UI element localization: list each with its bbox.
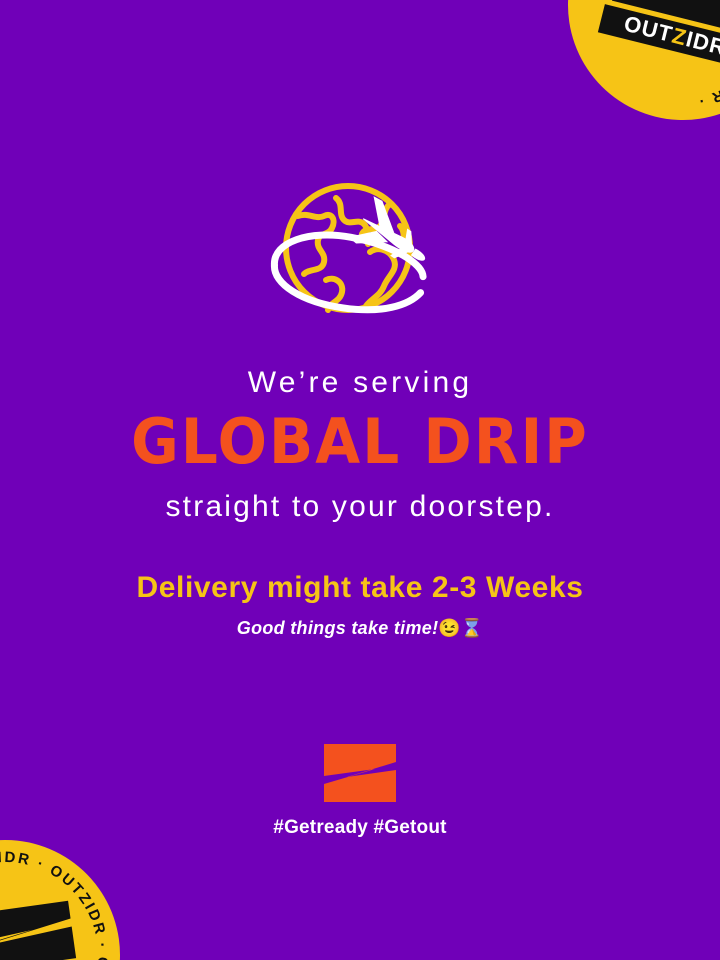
delivery-reassurance: Good things take time!😉⌛ <box>0 619 720 639</box>
brand-stamp-bottom-left: OUTZIDR · OUTZIDR · OUTZIDR · OUTZIDR · … <box>0 825 135 960</box>
stamp-z-logo-icon <box>0 898 82 960</box>
brand-stamp-top-right: OUTZIDR · OUTZIDR · OUTZIDR · OUTZIDR · … <box>544 0 720 144</box>
copy-block: We’re serving GLOBAL DRIP straight to yo… <box>0 366 720 639</box>
reassurance-text: Good things take time! <box>237 618 439 638</box>
poster-canvas: OUTZIDR · OUTZIDR · OUTZIDR · OUTZIDR · … <box>0 0 720 960</box>
delivery-notice: Delivery might take 2-3 Weeks <box>0 571 720 604</box>
page-title: GLOBAL DRIP <box>0 407 720 476</box>
stamp-core: OUTZIDR <box>0 898 87 960</box>
brand-z-logo-icon <box>321 742 399 804</box>
hashtags-text: #Getready #Getout <box>0 817 720 839</box>
wink-hourglass-emoji: 😉⌛ <box>438 618 483 638</box>
eyebrow-text: We’re serving <box>0 366 720 399</box>
hero-illustration <box>0 168 720 343</box>
globe-with-airplane-icon <box>240 168 480 343</box>
subtitle-text: straight to your doorstep. <box>0 490 720 523</box>
footer-block: #Getready #Getout <box>0 742 720 839</box>
